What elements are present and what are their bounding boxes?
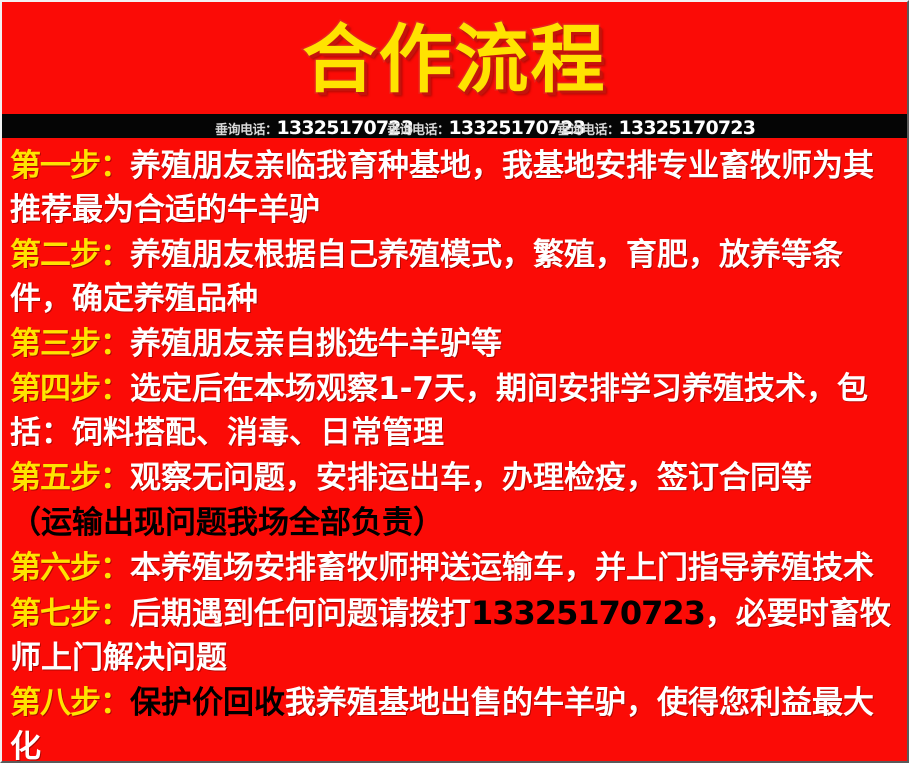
poster-root: 合作流程 垂询电话： 13325170723 垂询电话： 13325170723… [0, 0, 909, 763]
step-text-2: 养殖朋友根据自己养殖模式，繁殖，育肥，放养等条件，确定养殖品种 [10, 237, 843, 317]
step-item-7: 第七步：后期遇到任何问题请拨打13325170723，必要时畜牧师上门解决问题 [10, 591, 903, 680]
step-5-note: （运输出现问题我场全部负责） [10, 501, 903, 545]
phone-entry-3: 垂询电话： 13325170723 [557, 117, 755, 138]
step-label-4: 第四步： [10, 371, 130, 407]
step-7-phone-number: 13325170723 [471, 594, 705, 632]
step-text-4: 选定后在本场观察1-7天，期间安排学习养殖技术，包括：饲料搭配、消毒、日常管理 [10, 371, 868, 451]
page-title: 合作流程 [2, 16, 907, 104]
step-text-5: 观察无问题，安排运出车，办理检疫，签订合同等 [130, 460, 812, 496]
step-8-highlight: 保护价回收 [130, 685, 285, 721]
step-label-5: 第五步： [10, 460, 130, 496]
step-text-7-before: 后期遇到任何问题请拨打 [130, 596, 471, 632]
step-label-6: 第六步： [10, 550, 130, 586]
step-label-7: 第七步： [10, 596, 130, 632]
step-item-6: 第六步：本养殖场安排畜牧师押送运输车，并上门指导养殖技术 [10, 546, 903, 590]
step-item-3: 第三步：养殖朋友亲自挑选牛羊驴等 [10, 322, 903, 366]
step-text-1: 养殖朋友亲临我育种基地，我基地安排专业畜牧师为其推荐最为合适的牛羊驴 [10, 148, 874, 228]
phone-entry-2: 垂询电话： 13325170723 [387, 117, 585, 138]
step-label-8: 第八步： [10, 685, 130, 721]
step-label-1: 第一步： [10, 148, 130, 184]
phone-number-3: 13325170723 [619, 117, 756, 138]
step-5-note-text: （运输出现问题我场全部负责） [10, 505, 444, 541]
steps-container: 第一步：养殖朋友亲临我育种基地，我基地安排专业畜牧师为其推荐最为合适的牛羊驴 第… [2, 138, 909, 763]
phone-label-3: 垂询电话： [557, 119, 620, 138]
poster-header: 合作流程 [2, 2, 907, 114]
step-item-5: 第五步：观察无问题，安排运出车，办理检疫，签订合同等 [10, 456, 903, 500]
phone-banner-strip: 垂询电话： 13325170723 垂询电话： 13325170723 垂询电话… [2, 114, 907, 138]
phone-label-2: 垂询电话： [387, 119, 450, 138]
step-item-1: 第一步：养殖朋友亲临我育种基地，我基地安排专业畜牧师为其推荐最为合适的牛羊驴 [10, 144, 903, 232]
step-item-2: 第二步：养殖朋友根据自己养殖模式，繁殖，育肥，放养等条件，确定养殖品种 [10, 233, 903, 321]
step-item-8: 第八步：保护价回收我养殖基地出售的牛羊驴，使得您利益最大化 [10, 681, 903, 763]
phone-entry-1: 垂询电话： 13325170723 [215, 117, 413, 138]
step-label-3: 第三步： [10, 326, 130, 362]
phone-banner: 垂询电话： 13325170723 垂询电话： 13325170723 垂询电话… [2, 114, 907, 138]
step-label-2: 第二步： [10, 237, 130, 273]
step-text-3: 养殖朋友亲自挑选牛羊驴等 [130, 326, 502, 362]
step-text-6: 本养殖场安排畜牧师押送运输车，并上门指导养殖技术 [130, 550, 874, 586]
step-item-4: 第四步：选定后在本场观察1-7天，期间安排学习养殖技术，包括：饲料搭配、消毒、日… [10, 367, 903, 455]
phone-label-1: 垂询电话： [215, 119, 278, 138]
